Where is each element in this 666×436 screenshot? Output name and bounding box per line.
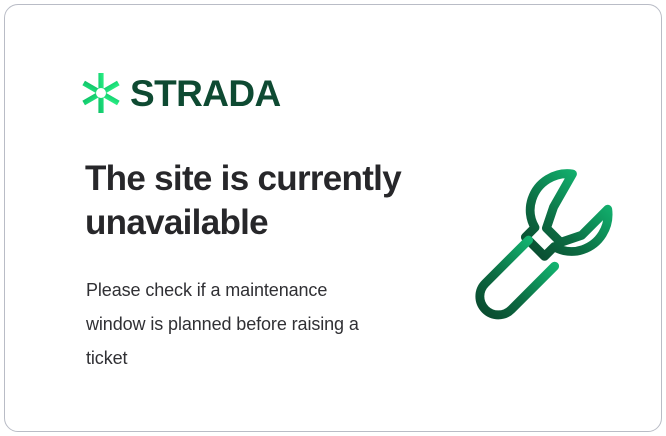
page-title: The site is currently unavailable: [85, 157, 425, 245]
maintenance-description: Please check if a maintenance window is …: [86, 273, 391, 375]
brand-wordmark: STRADA: [130, 75, 281, 112]
brand-logo: STRADA: [81, 73, 281, 113]
wrench-icon: [457, 155, 625, 323]
maintenance-card: STRADA The site is currently unavailable…: [4, 4, 662, 432]
strada-asterisk-icon: [81, 73, 121, 113]
